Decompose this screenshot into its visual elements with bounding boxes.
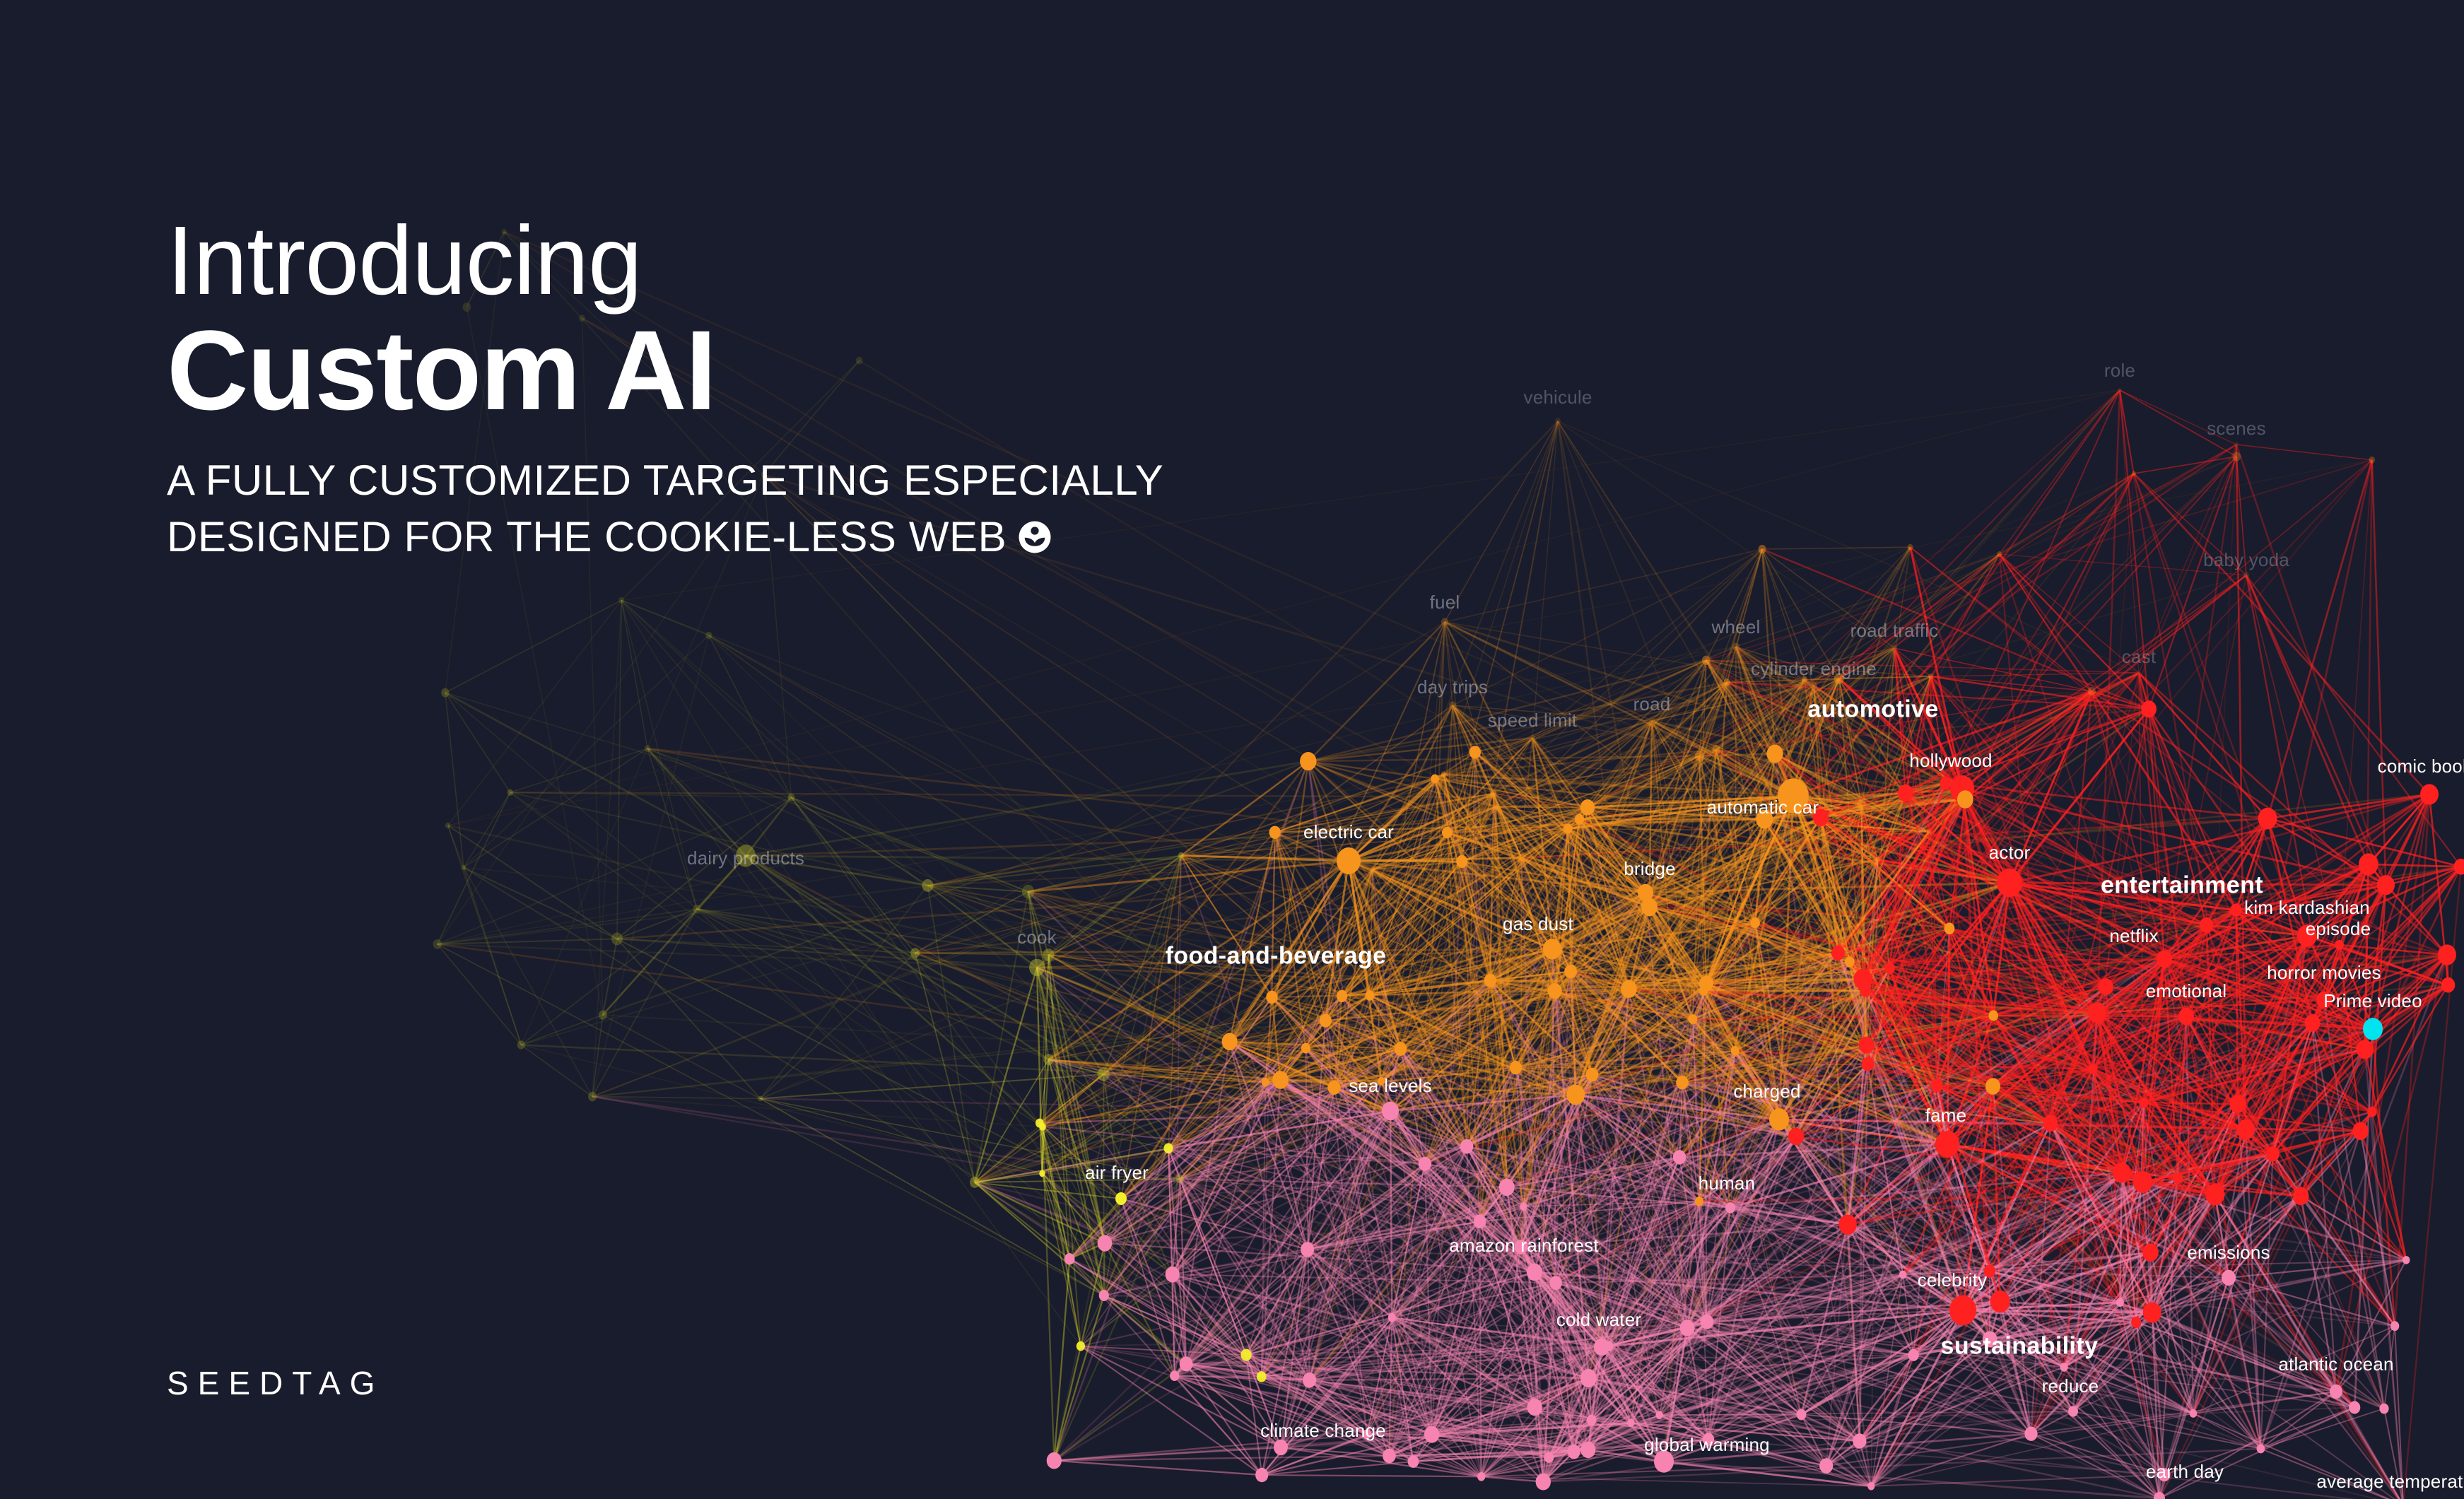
graph-node [2367,1107,2376,1117]
graph-node [1732,642,1740,650]
graph-node [1860,985,1870,997]
graph-node [1797,1409,1807,1420]
graph-node [2243,572,2249,579]
graph-node [1536,1474,1551,1491]
graph-node [1383,1449,1395,1464]
graph-node [1627,1418,1634,1427]
graph-node [611,932,623,945]
graph-node [2139,1098,2148,1108]
graph-node [1935,1131,1959,1158]
graph-node [2357,1040,2374,1059]
graph-node [1419,1157,1431,1171]
hero-kicker: Introducing [167,212,1439,310]
graph-node [2088,1002,2106,1023]
graph-node [1544,1452,1554,1463]
graph-node [1983,1332,1997,1348]
graph-node [508,789,513,796]
graph-node [1712,745,1720,754]
graph-node [1957,790,1973,809]
graph-node [1064,1253,1075,1264]
graph-node [2297,924,2317,946]
graph-node [1673,1150,1686,1164]
graph-node [1700,1315,1713,1329]
graph-node [1441,772,1446,777]
graph-node [1564,824,1572,834]
graph-node [1724,678,1731,686]
seedtag-sprout-icon [1018,520,1052,554]
graph-node [2068,1406,2078,1417]
graph-node [1543,939,1561,959]
graph-node [1382,1102,1399,1121]
graph-node [1456,855,1467,868]
graph-node [1875,857,1879,862]
hero-text-block: Introducing Custom AI A FULLY CUSTOMIZED… [167,212,1439,565]
graph-node [441,688,449,698]
graph-node [1621,980,1637,998]
graph-node [1494,804,1499,810]
graph-node [1303,1372,1316,1388]
graph-node [1931,1079,1943,1093]
graph-node [1575,814,1584,825]
graph-node [1810,681,1817,689]
graph-node [2088,687,2096,696]
graph-node [2141,700,2157,717]
graph-node [1484,974,1496,987]
hero-headline: Custom AI [167,314,1439,427]
graph-node [2159,1468,2171,1481]
graph-node [1859,1037,1875,1054]
graph-node [1949,1295,1976,1326]
graph-node [517,1040,525,1049]
graph-node [1767,745,1783,763]
graph-node [1269,826,1281,839]
graph-node [2316,992,2332,1009]
graph-node [2133,1171,2153,1193]
graph-node [2230,903,2242,917]
graph-node [1039,1123,1046,1131]
graph-node [2043,1115,2058,1131]
graph-node [2335,940,2344,950]
graph-node [1802,676,1807,683]
graph-node [1838,1215,1856,1235]
graph-node [1580,1442,1595,1459]
graph-node [2441,977,2456,993]
graph-node [645,745,651,752]
graph-node [1834,673,1844,684]
graph-node [1689,1014,1697,1024]
graph-node [1039,1170,1045,1177]
graph-node [433,939,442,949]
graph-node [1378,1077,1385,1086]
graph-node [910,948,920,958]
graph-node [1867,1482,1875,1490]
graph-node [1944,923,1955,935]
graph-node [2143,1303,2161,1323]
graph-node [2137,671,2141,676]
graph-node [2305,1014,2321,1031]
graph-node [1695,1197,1703,1206]
graph-node [1518,854,1525,863]
graph-node [1441,618,1448,625]
graph-node [2142,1243,2159,1262]
graph-node [1098,1235,1113,1252]
graph-node [1940,777,1951,789]
graph-node [1395,1042,1407,1056]
graph-node [1845,956,1855,967]
graph-node [1166,1266,1180,1283]
graph-node [1424,1426,1439,1443]
graph-node [1778,778,1809,813]
graph-node [1853,1433,1866,1448]
graph-node [1908,1349,1919,1361]
graph-node [1731,1046,1740,1056]
graph-node [1274,1440,1288,1455]
graph-node [1813,809,1829,826]
graph-node [2132,471,2136,476]
graph-node [1098,1067,1110,1081]
seedtag-wordmark: SEEDTAG [167,1364,384,1402]
hero-subline-line2: DESIGNED FOR THE COOKIE-LESS WEB [167,509,1007,565]
graph-node [2359,853,2378,875]
graph-node [1320,1014,1332,1028]
graph-node [618,597,624,604]
graph-node [1997,551,2002,557]
hero-subline-line1: A FULLY CUSTOMIZED TARGETING ESPECIALLY [167,452,1439,509]
graph-node [1099,1290,1109,1301]
slide-canvas: vehiculerolescenesbaby yodacastfuelwheel… [0,0,2464,1499]
graph-node [970,1177,980,1188]
graph-node [1477,1472,1485,1481]
graph-node [588,1092,597,1102]
graph-node [1449,701,1456,709]
graph-node [1327,1081,1340,1095]
graph-node [2234,442,2239,447]
graph-node [1555,418,1561,425]
graph-node [2024,1427,2037,1441]
graph-node [1703,1433,1714,1445]
graph-node [1756,810,1773,829]
graph-node [1788,1128,1804,1146]
graph-node [1240,1349,1251,1361]
graph-node [1580,799,1595,816]
graph-node [1985,1078,2000,1095]
graph-node [1568,1445,1580,1459]
graph-node [2173,1173,2183,1184]
graph-node [1680,1319,1695,1336]
graph-node [1510,1061,1522,1074]
graph-node [1514,1240,1527,1254]
graph-node [2060,1363,2068,1372]
graph-node [2266,1146,2280,1161]
graph-node [1460,1139,1473,1154]
graph-node [1520,1202,1527,1210]
graph-node [2099,978,2113,995]
graph-node [1527,1264,1542,1281]
graph-node [1262,1078,1269,1086]
graph-node [2229,1095,2246,1113]
graph-node [1769,1108,1789,1130]
graph-node [1580,1369,1597,1387]
graph-node [1115,1192,1127,1205]
graph-node [1988,1010,1998,1021]
graph-node [1857,799,1866,809]
graph-node [1222,1033,1238,1050]
graph-node [1301,1242,1314,1257]
graph-node [1337,990,1347,1002]
graph-node [1527,1399,1542,1416]
graph-node [1700,987,1708,996]
graph-node [1047,1452,1062,1469]
graph-node [1656,1411,1663,1420]
graph-node [1891,645,1897,652]
graph-node [2369,457,2376,464]
graph-node [1474,1215,1486,1229]
graph-node [1408,1455,1419,1468]
graph-node [2258,808,2277,829]
graph-node [922,879,933,892]
graph-node [2363,1018,2383,1040]
graph-node [1725,1202,1735,1213]
graph-node [1549,1276,1562,1290]
graph-node [2352,1122,2369,1140]
graph-node [1641,898,1658,917]
graph-node [788,794,795,801]
graph-node [1170,1370,1179,1381]
graph-node [2232,452,2241,461]
graph-node [2257,1444,2265,1453]
graph-node [1044,1054,1054,1065]
graph-node [1176,1175,1184,1183]
graph-node [2118,388,2122,393]
graph-node [2205,1184,2224,1206]
graph-node [1257,1371,1267,1382]
graph-node [1300,752,1316,770]
graph-node [1180,1356,1193,1371]
graph-node [1388,1313,1396,1322]
graph-node [1702,656,1711,665]
graph-node [1363,1430,1371,1440]
graph-node [2222,1270,2236,1286]
hero-subline-row: DESIGNED FOR THE COOKIE-LESS WEB [167,509,1439,565]
graph-node [1759,545,1766,553]
graph-node [1499,1179,1515,1196]
graph-node [462,865,467,871]
graph-node [1022,885,1034,899]
graph-node [1676,1076,1688,1090]
graph-node [2379,1404,2388,1414]
graph-node [1984,1264,1995,1277]
graph-node [1469,746,1481,758]
graph-node [1997,869,2022,897]
graph-node [2420,784,2439,804]
graph-node [1178,852,1185,859]
graph-node [1649,718,1655,724]
graph-node [1819,1458,1833,1474]
graph-node [1586,1068,1599,1082]
graph-node [2088,1064,2097,1074]
graph-node [1654,1450,1674,1472]
graph-node [2200,917,2213,932]
graph-node [1255,1468,1268,1482]
graph-node [2116,1298,2124,1307]
graph-node [1908,544,1913,551]
graph-node [1272,1071,1289,1089]
graph-node [445,823,451,829]
graph-node [1604,1341,1613,1351]
graph-node [1862,1057,1875,1071]
graph-node [2438,944,2456,965]
graph-node [1530,735,1535,741]
graph-node [1566,1085,1585,1105]
graph-node [2131,1317,2141,1328]
graph-node [1564,965,1577,979]
graph-node [1750,917,1760,928]
graph-node [1927,829,1932,835]
graph-node [2330,1385,2342,1399]
graph-node [1587,1415,1597,1425]
graph-node [1301,1043,1310,1054]
graph-node [1899,1271,1906,1279]
graph-node [2157,951,2172,968]
graph-node [2178,1008,2194,1025]
graph-node [1366,990,1375,1000]
graph-node [2403,1256,2410,1264]
graph-node [1043,948,1054,961]
graph-node [1695,751,1704,761]
graph-node [2377,875,2395,895]
graph-node [2113,1163,2131,1183]
graph-node [1442,827,1453,838]
graph-node [1831,946,1845,960]
graph-node [1431,775,1439,784]
graph-node [1928,674,1934,679]
graph-node [736,845,756,866]
graph-node [693,905,700,914]
graph-node [2237,1119,2255,1140]
graph-node [1266,991,1277,1004]
graph-node [1337,847,1361,874]
graph-node [1990,1291,2010,1312]
graph-node [758,1096,763,1102]
graph-node [1548,983,1562,999]
graph-node [2293,1187,2309,1206]
graph-node [2390,1321,2399,1331]
graph-node [705,632,712,639]
graph-node [1076,1341,1085,1351]
graph-node [2349,1401,2360,1413]
graph-node [1491,790,1497,797]
graph-node [1163,1143,1173,1153]
graph-node [1884,963,1895,974]
graph-node [1370,867,1375,873]
graph-node [2190,1409,2198,1418]
graph-node [1898,784,1913,802]
graph-node [599,1010,607,1019]
graph-node [1029,959,1045,977]
